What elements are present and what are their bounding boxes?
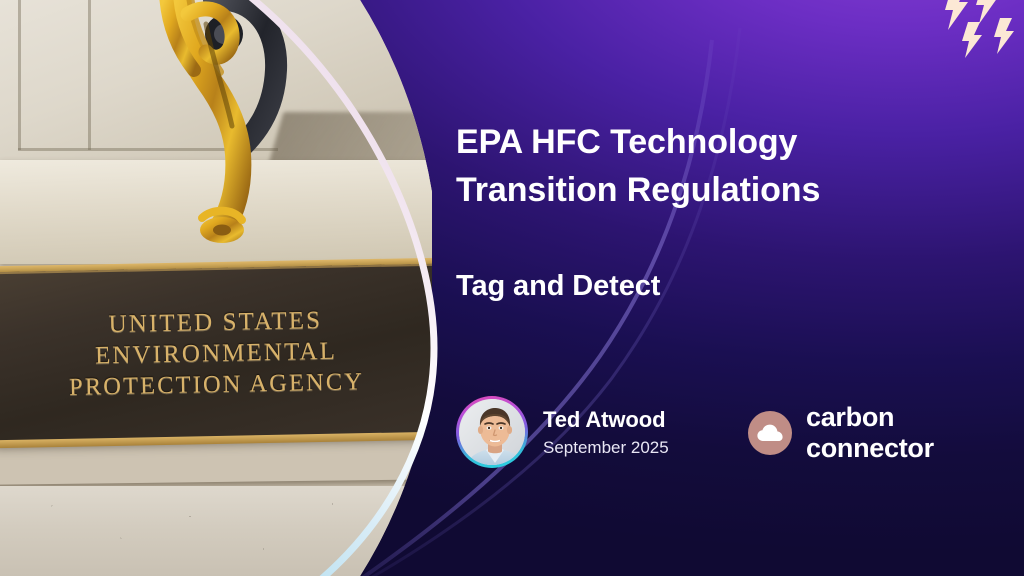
brand-logo: carbon connector [748, 402, 934, 465]
epa-plaque-photo: UNITED STATES ENVIRONMENTAL PROTECTION A… [0, 0, 432, 576]
gold-bracket-ornament [150, 0, 290, 246]
plaque-line-3: PROTECTION AGENCY [69, 368, 364, 401]
title-line-1: EPA HFC Technology [456, 118, 926, 166]
page-title: EPA HFC Technology Transition Regulation… [456, 118, 926, 215]
brand-name-line-1: carbon [806, 402, 934, 433]
brand-name: carbon connector [806, 402, 934, 465]
brand-mark [748, 411, 792, 455]
title-line-2: Transition Regulations [456, 166, 926, 214]
plaque-inscription: UNITED STATES ENVIRONMENTAL PROTECTION A… [0, 264, 432, 445]
cloud-icon [757, 424, 783, 442]
presenter-meta: Ted Atwood September 2025 [543, 407, 669, 458]
avatar [459, 399, 525, 465]
plaque-line-2: ENVIRONMENTAL [95, 338, 337, 371]
brand-name-line-2: connector [806, 433, 934, 464]
presenter-block: Ted Atwood September 2025 [456, 396, 669, 468]
title-slide: UNITED STATES ENVIRONMENTAL PROTECTION A… [0, 0, 1024, 576]
avatar-ring [456, 396, 528, 468]
presentation-date: September 2025 [543, 438, 669, 458]
granite-base [0, 486, 432, 576]
slide-subtitle: Tag and Detect [456, 270, 660, 303]
presenter-name: Ted Atwood [543, 407, 669, 433]
avatar-portrait [459, 399, 525, 465]
plaque-line-1: UNITED STATES [108, 307, 322, 339]
slide-content: EPA HFC Technology Transition Regulation… [456, 0, 1024, 576]
